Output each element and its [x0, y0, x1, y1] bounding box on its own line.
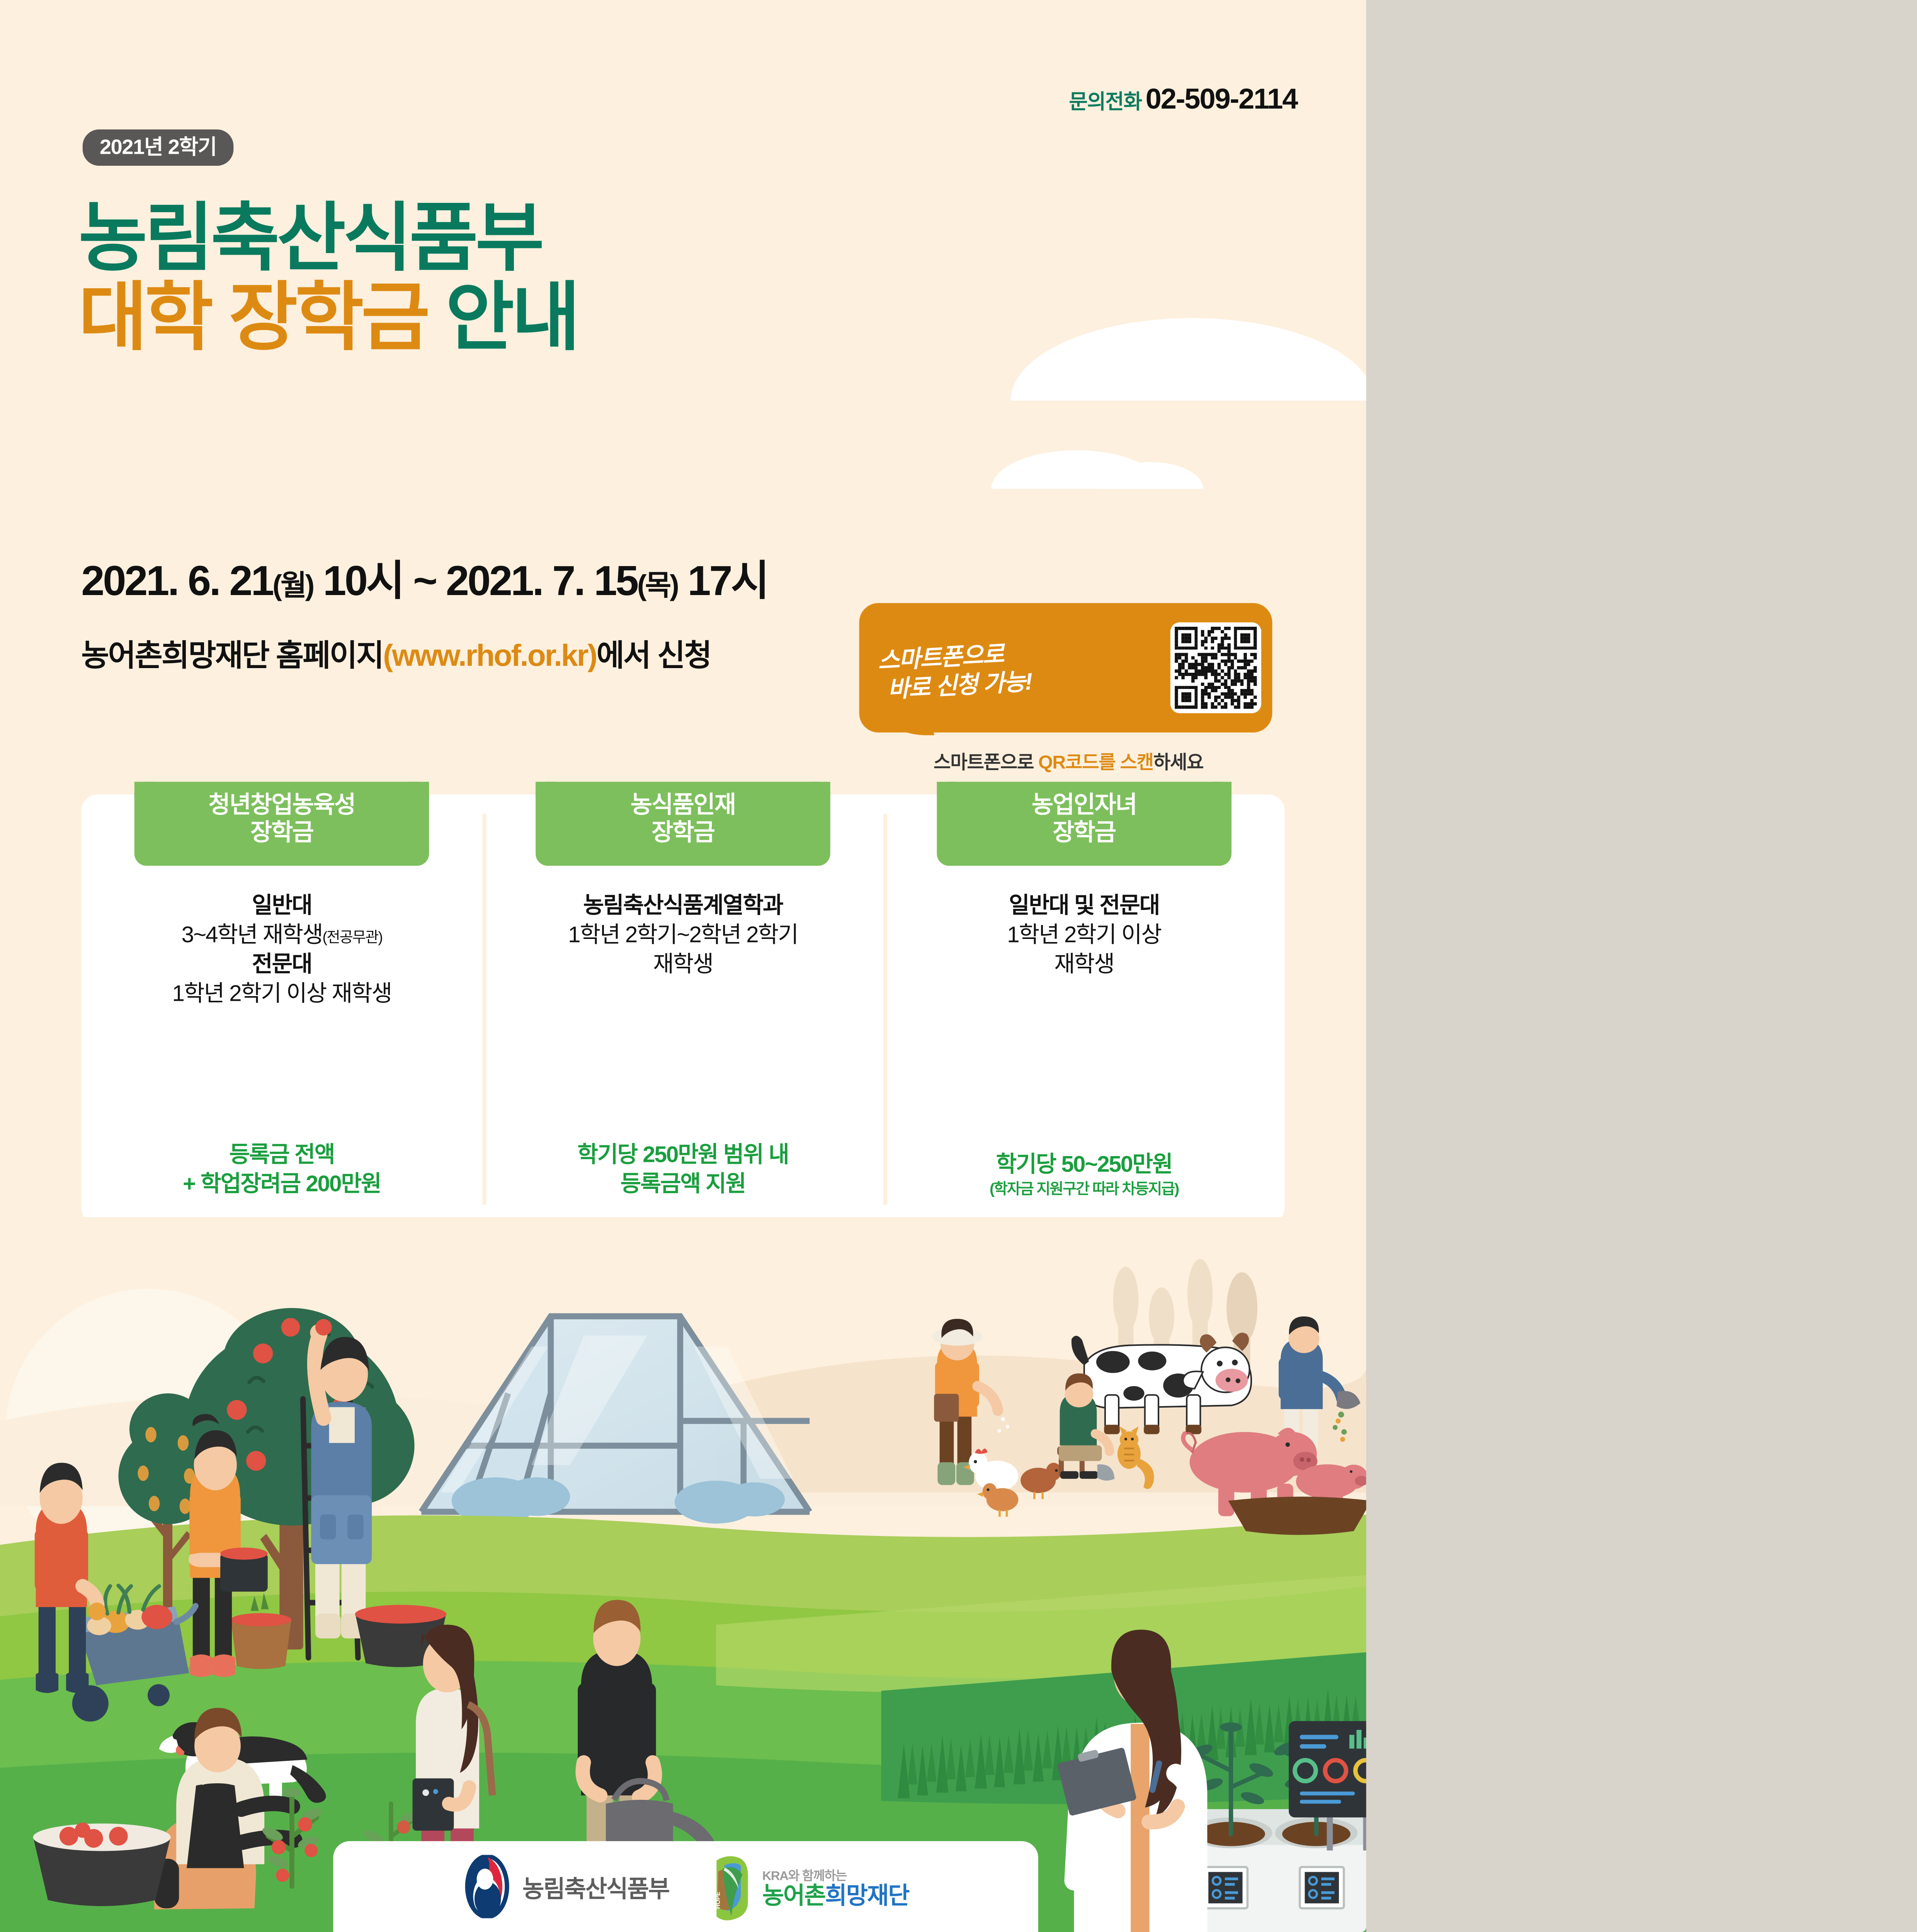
hope-mark-text: HOPE: [715, 1892, 721, 1909]
card-body-line: 재학생: [1007, 949, 1161, 979]
qr-code[interactable]: [1170, 622, 1261, 713]
card-body-line: 1학년 2학기 이상: [1007, 920, 1161, 949]
card-amount: 등록금 전액 + 학업장려금 200만원: [183, 1140, 381, 1199]
foundation-logo-group: HOPE KRA와 함께하는 농어촌희망재단: [711, 1852, 909, 1921]
card-title-line-2: 장학금: [536, 819, 830, 846]
foundation-sub: KRA와 함께하는: [762, 1866, 909, 1884]
card-body-text: 3~4학년 재학생: [182, 922, 323, 947]
card-title-line-1: 농업인자녀: [937, 791, 1232, 818]
ministry-name: 농림축산식품부: [522, 1869, 669, 1904]
card-amount-note: (학자금 지원구간 따라 차등지급): [990, 1179, 1179, 1199]
farm-illustration: [0, 1217, 1366, 1932]
application-period: 2021. 6. 21(월) 10시 ~ 2021. 7. 15(목) 17시: [81, 547, 767, 607]
qr-grid: [1175, 627, 1257, 709]
date-start-day: (월): [272, 570, 313, 602]
title-line-2: 대학 장학금 안내: [78, 278, 578, 357]
card-body-line: 3~4학년 재학생(전공무관): [172, 920, 391, 949]
card-title-line-1: 청년창업농육성: [134, 791, 429, 818]
card-amount-line-2: + 학업장려금 200만원: [183, 1169, 381, 1199]
card-amount-line-1: 등록금 전액: [183, 1140, 381, 1169]
card-amount-line-1: 학기당 250만원 범위 내: [577, 1140, 788, 1169]
title-guide: 안내: [446, 276, 578, 359]
site-prefix: 농어촌희망재단 홈페이지: [81, 639, 383, 673]
title-line-1: 농림축산식품부: [78, 198, 578, 277]
card-body-note: (전공무관): [323, 929, 382, 946]
card-header: 청년창업농육성 장학금: [134, 782, 429, 866]
foundation-name-part1: 농어촌: [762, 1883, 825, 1909]
site-suffix: 에서 신청: [597, 639, 711, 673]
qr-caption-prefix: 스마트폰으로: [934, 752, 1038, 773]
title-scholarship: 대학 장학금: [78, 276, 427, 359]
card-title-line-1: 농식품인재: [536, 791, 830, 818]
contact-phone: 문의전화 02-509-2114: [1069, 83, 1297, 116]
card-body-line: 1학년 2학기 이상 재학생: [172, 979, 391, 1008]
card-body-line: 일반대: [172, 891, 391, 920]
date-end-day: (목): [637, 570, 678, 602]
card-title-line-2: 장학금: [937, 819, 1232, 846]
card-body-line: 재학생: [568, 949, 798, 979]
card-amount: 학기당 50~250만원 (학자금 지원구간 따라 차등지급): [990, 1150, 1179, 1199]
card-body: 일반대 및 전문대 1학년 2학기 이상 재학생: [1007, 891, 1161, 979]
card-title-line-2: 장학금: [134, 819, 429, 846]
card-body-line: 일반대 및 전문대: [1007, 891, 1161, 920]
card-amount: 학기당 250만원 범위 내 등록금액 지원: [577, 1140, 788, 1199]
page-title: 농림축산식품부 대학 장학금 안내: [78, 198, 578, 357]
ministry-logo-group: 농림축산식품부: [463, 1855, 669, 1918]
card-body-line: 농림축산식품계열학과: [568, 891, 798, 920]
scholarship-card[interactable]: 청년창업농육성 장학금 일반대 3~4학년 재학생(전공무관) 전문대 1학년 …: [81, 794, 482, 1224]
taegeuk-logo-icon: [463, 1855, 512, 1918]
qr-caption: 스마트폰으로 QR코드를 스캔하세요: [859, 747, 1277, 774]
card-body-line: 전문대: [172, 949, 391, 979]
hope-leaf-logo-icon: HOPE: [711, 1852, 752, 1921]
qr-block: 스마트폰으로 바로 신청 가능! 스마트폰으로 QR코드를 스캔하세요: [859, 603, 1277, 774]
card-amount-line-2: 등록금액 지원: [577, 1169, 788, 1199]
date-start: 2021. 6. 21: [81, 557, 272, 604]
card-body: 농림축산식품계열학과 1학년 2학기~2학년 2학기 재학생: [568, 891, 798, 979]
poster-root: 문의전화 02-509-2114 2021년 2학기 농림축산식품부 대학 장학…: [0, 0, 1366, 1932]
qr-caption-highlight: QR코드를 스캔: [1038, 752, 1153, 773]
semester-badge: 2021년 2학기: [83, 129, 234, 166]
phone-label: 문의전화: [1069, 85, 1141, 114]
bubble-text: 스마트폰으로 바로 신청 가능!: [877, 631, 1162, 704]
scholarship-card[interactable]: 농식품인재 장학금 농림축산식품계열학과 1학년 2학기~2학년 2학기 재학생…: [482, 794, 883, 1224]
speech-bubble: 스마트폰으로 바로 신청 가능!: [859, 603, 1272, 733]
card-amount-line-1: 학기당 50~250만원: [990, 1150, 1179, 1179]
foundation-name: 농어촌희망재단: [762, 1884, 909, 1907]
card-header: 농식품인재 장학금: [536, 782, 830, 866]
scholarship-card[interactable]: 농업인자녀 장학금 일반대 및 전문대 1학년 2학기 이상 재학생 학기당 5…: [883, 794, 1284, 1224]
scholarship-cards: 청년창업농육성 장학금 일반대 3~4학년 재학생(전공무관) 전문대 1학년 …: [81, 794, 1284, 1224]
cloud-large: [1010, 318, 1366, 401]
card-header: 농업인자녀 장학금: [937, 782, 1232, 866]
foundation-text: KRA와 함께하는 농어촌희망재단: [762, 1866, 909, 1907]
foundation-name-part2: 희망재단: [825, 1883, 909, 1909]
card-body: 일반대 3~4학년 재학생(전공무관) 전문대 1학년 2학기 이상 재학생: [172, 891, 391, 1008]
qr-caption-suffix: 하세요: [1153, 752, 1203, 773]
card-body-line: 1학년 2학기~2학년 2학기: [568, 920, 798, 949]
title-ministry: 농림축산식품부: [78, 196, 541, 280]
site-url[interactable]: (www.rhof.or.kr): [383, 639, 597, 673]
bubble-line-1: 스마트폰으로: [877, 641, 1004, 674]
footer: 농림축산식품부 HOPE KRA와 함께하는 농어촌희망재단: [333, 1841, 1038, 1932]
date-end-time: 17시: [678, 557, 768, 604]
application-site: 농어촌희망재단 홈페이지(www.rhof.or.kr)에서 신청: [81, 631, 711, 675]
phone-number: 02-509-2114: [1146, 83, 1298, 116]
date-middle: 10시 ~ 2021. 7. 15: [313, 557, 637, 604]
